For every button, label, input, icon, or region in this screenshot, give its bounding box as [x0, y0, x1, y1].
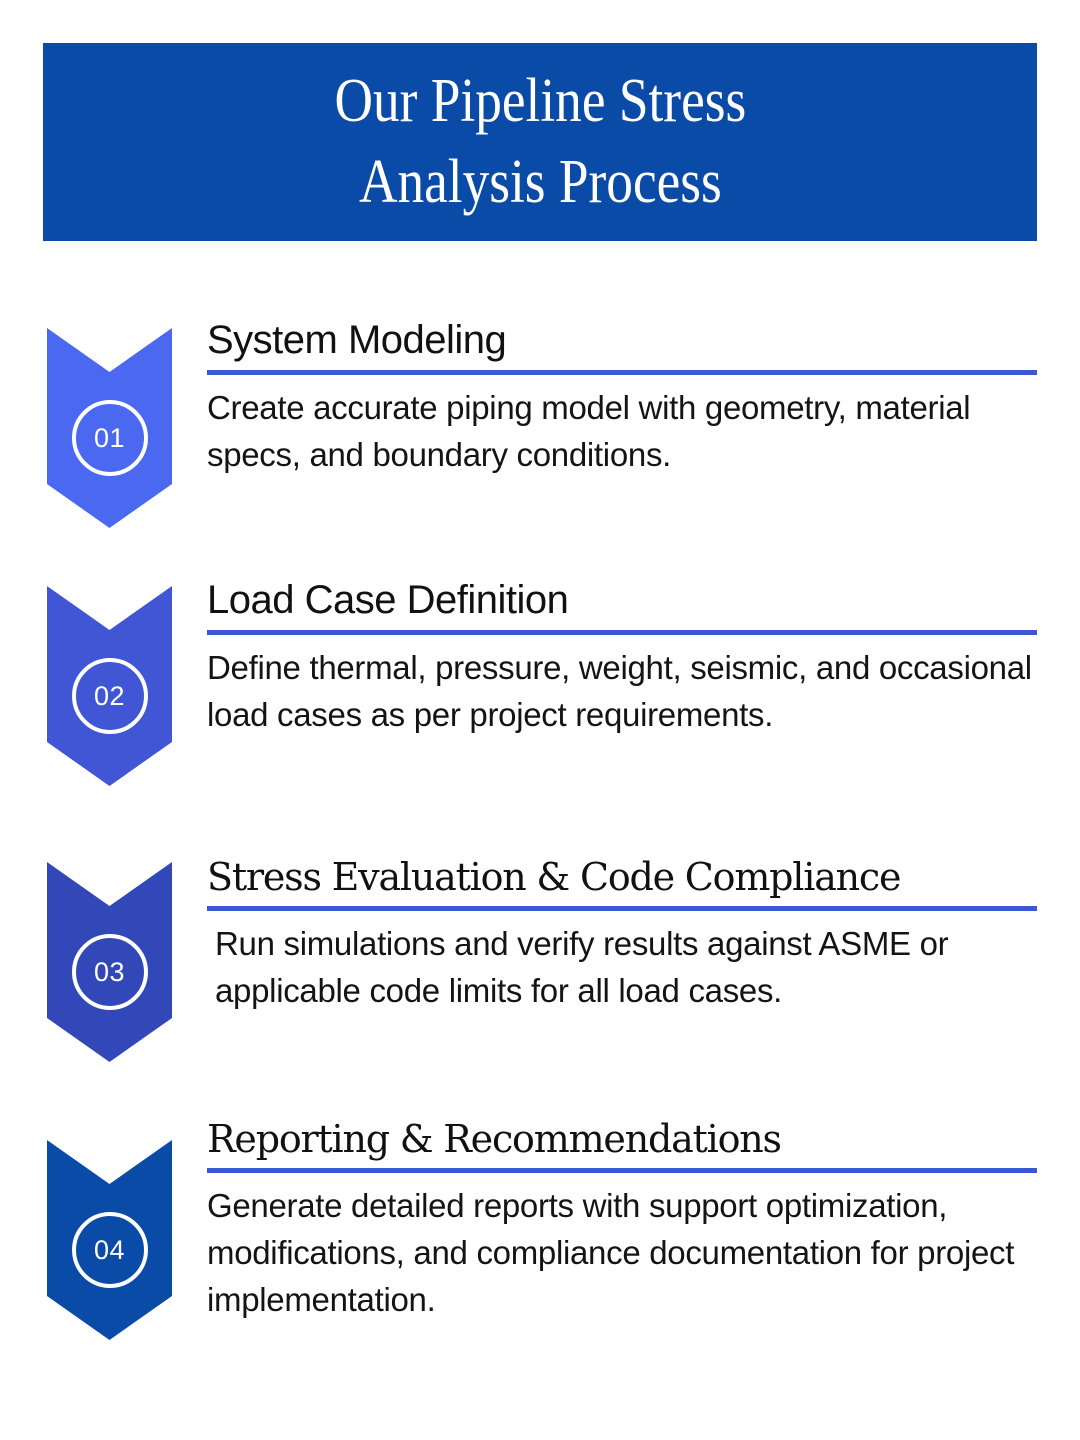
step-marker-01: 01	[47, 328, 172, 528]
step-number-circle: 04	[72, 1212, 148, 1288]
step-marker-03: 03	[47, 862, 172, 1062]
step-number-label: 04	[94, 1237, 125, 1264]
step-content-01: System Modeling Create accurate piping m…	[207, 318, 1037, 478]
step-marker-04: 04	[47, 1140, 172, 1340]
step-description: Create accurate piping model with geomet…	[207, 384, 1037, 478]
step-number-circle: 02	[72, 658, 148, 734]
step-content-02: Load Case Definition Define thermal, pre…	[207, 578, 1037, 738]
step-divider	[207, 370, 1037, 375]
step-divider	[207, 1168, 1037, 1173]
step-description: Generate detailed reports with support o…	[207, 1182, 1037, 1324]
step-heading: Reporting & Recommendations	[207, 1118, 1037, 1161]
step-number-label: 03	[94, 959, 125, 986]
step-heading: Load Case Definition	[207, 578, 1037, 623]
step-content-04: Reporting & Recommendations Generate det…	[207, 1118, 1037, 1323]
process-steps-list: 01 System Modeling Create accurate pipin…	[0, 0, 1080, 1440]
step-heading: System Modeling	[207, 318, 1037, 363]
step-description: Run simulations and verify results again…	[207, 920, 1037, 1014]
step-number-label: 02	[94, 683, 125, 710]
step-number-label: 01	[94, 425, 125, 452]
step-content-03: Stress Evaluation & Code Compliance Run …	[207, 856, 1037, 1014]
step-marker-02: 02	[47, 586, 172, 786]
step-divider	[207, 630, 1037, 635]
step-heading: Stress Evaluation & Code Compliance	[207, 856, 1037, 899]
step-number-circle: 01	[72, 400, 148, 476]
step-divider	[207, 906, 1037, 911]
step-description: Define thermal, pressure, weight, seismi…	[207, 644, 1037, 738]
step-number-circle: 03	[72, 934, 148, 1010]
